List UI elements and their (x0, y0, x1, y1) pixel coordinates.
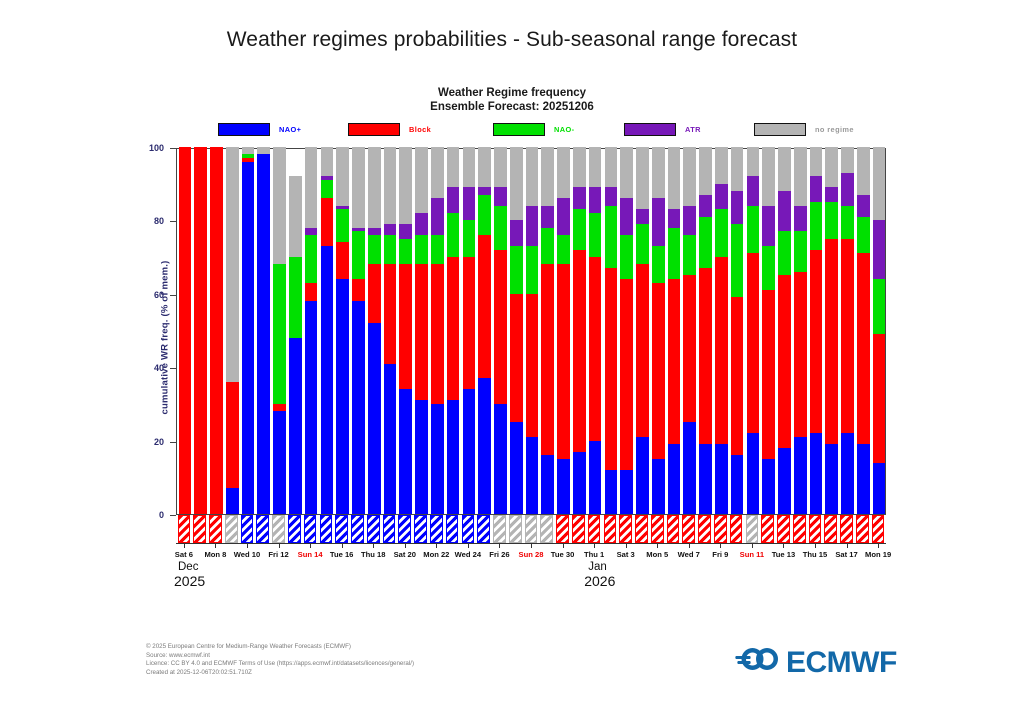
bar-segment-atr (478, 187, 491, 194)
bar-segment-no-regime (431, 147, 444, 198)
hatch-pattern-icon (841, 516, 852, 542)
bar-segment-block (447, 257, 460, 400)
bar-segment-nao (683, 422, 696, 514)
bar-segment-nao (841, 433, 854, 514)
dominant-regime-cell-block (635, 515, 648, 543)
hatch-pattern-icon (715, 516, 726, 542)
bar-segment-nao (857, 217, 870, 254)
bar-segment-atr (762, 206, 775, 246)
stacked-bar (620, 149, 633, 514)
footer-line-licence: Licence: CC BY 4.0 and ECMWF Terms of Us… (146, 660, 706, 669)
chart-title-line2: Ensemble Forecast: 20251206 (0, 100, 1024, 114)
ecmwf-logo-text: ECMWF (786, 646, 897, 680)
dominant-regime-cell-block (619, 515, 632, 543)
bar-segment-atr (699, 195, 712, 217)
stacked-bar (321, 149, 334, 514)
hatch-pattern-icon (762, 516, 773, 542)
dominant-regime-cell-nao (446, 515, 459, 543)
bar-segment-block (226, 382, 239, 488)
bar-segment-nao (557, 235, 570, 264)
bar-segment-block (825, 239, 838, 445)
hatch-pattern-icon (415, 516, 426, 542)
bar-segment-nao (321, 246, 334, 514)
bar-segment-nao (257, 154, 270, 514)
bar-segment-no-regime (510, 147, 523, 220)
hatch-pattern-icon (605, 516, 616, 542)
chart-legend: NAO+BlockNAO-ATRno regime (176, 121, 888, 139)
x-axis-tick-label: Thu 18 (361, 550, 385, 559)
dominant-regime-cell-no-regime (540, 515, 553, 543)
x-axis-tick-mark (783, 543, 784, 548)
stacked-bar (526, 149, 539, 514)
bar-segment-no-regime (273, 147, 286, 264)
stacked-bar (384, 149, 397, 514)
bar-segment-atr (589, 187, 602, 213)
bar-segment-nao (636, 224, 649, 264)
bar-segment-atr (857, 195, 870, 217)
stacked-bar (494, 149, 507, 514)
dominant-regime-cell-nao (367, 515, 380, 543)
hatch-pattern-icon (478, 516, 489, 542)
bar-segment-no-regime (352, 147, 365, 228)
stacked-bar (857, 149, 870, 514)
plot-area (176, 148, 886, 515)
dominant-regime-cell-block (193, 515, 206, 543)
bar-segment-nao (699, 444, 712, 514)
hatch-pattern-icon (652, 516, 663, 542)
hatch-pattern-icon (368, 516, 379, 542)
bar-segment-no-regime (399, 147, 412, 224)
stacked-bar (825, 149, 838, 514)
stacked-bar (226, 149, 239, 514)
legend-item-nao: NAO+ (218, 121, 301, 137)
hatch-pattern-icon (873, 516, 884, 542)
x-axis-tick-mark (405, 543, 406, 548)
bar-segment-block (715, 257, 728, 444)
dominant-regime-cell-block (809, 515, 822, 543)
x-axis-tick-label: Wed 7 (678, 550, 700, 559)
bar-segment-nao (352, 231, 365, 279)
bar-segment-atr (510, 220, 523, 246)
dominant-regime-cell-block (793, 515, 806, 543)
hatch-pattern-icon (384, 516, 395, 542)
bar-segment-block (557, 264, 570, 459)
bar-segment-block (810, 250, 823, 434)
hatch-pattern-icon (526, 516, 537, 542)
x-axis-tick-label: Wed 10 (234, 550, 260, 559)
bar-segment-nao (226, 488, 239, 514)
x-axis-month-name: Dec (178, 561, 205, 573)
bar-segment-atr (794, 206, 807, 232)
legend-label: NAO- (554, 125, 574, 134)
bar-segment-no-regime (368, 147, 381, 228)
stacked-bar (478, 149, 491, 514)
stacked-bars-layer (177, 149, 885, 514)
bar-segment-nao (336, 279, 349, 514)
bar-segment-block (273, 404, 286, 411)
footer-line-copyright: © 2025 European Centre for Medium-Range … (146, 643, 706, 652)
dominant-regime-cell-nao (304, 515, 317, 543)
bar-segment-no-regime (384, 147, 397, 224)
bar-segment-nao (368, 235, 381, 264)
bar-segment-nao (526, 437, 539, 514)
bar-segment-block (368, 264, 381, 323)
x-axis-tick-label: Thu 1 (584, 550, 604, 559)
x-axis-tick-mark (499, 543, 500, 548)
bar-segment-block (589, 257, 602, 441)
x-axis: Sat 6Mon 8Wed 10Fri 12Sun 14Tue 16Thu 18… (176, 543, 886, 563)
bar-segment-block (636, 264, 649, 436)
bar-segment-nao (336, 209, 349, 242)
x-axis-tick-label: Fri 26 (489, 550, 509, 559)
bar-segment-atr (715, 184, 728, 210)
bar-segment-nao (526, 246, 539, 294)
bar-segment-nao (415, 400, 428, 514)
bar-segment-nao (478, 378, 491, 514)
stacked-bar (289, 149, 302, 514)
stacked-bar (194, 149, 207, 514)
hatch-pattern-icon (321, 516, 332, 542)
bar-segment-nao (589, 213, 602, 257)
bar-segment-nao (463, 389, 476, 514)
hatch-pattern-icon (257, 516, 268, 542)
x-axis-year: 2026 (584, 573, 615, 589)
hatch-pattern-icon (557, 516, 568, 542)
hatch-pattern-icon (273, 516, 284, 542)
bar-segment-nao (778, 448, 791, 514)
x-axis-tick-label: Tue 30 (551, 550, 575, 559)
x-axis-tick-mark (468, 543, 469, 548)
dominant-regime-cell-block (572, 515, 585, 543)
bar-segment-atr (825, 187, 838, 202)
bar-segment-atr (810, 176, 823, 202)
bar-segment-no-regime (557, 147, 570, 198)
dominant-regime-cell-nao (398, 515, 411, 543)
dominant-regime-cell-block (556, 515, 569, 543)
x-axis-tick-label: Sat 6 (175, 550, 193, 559)
bar-segment-block (652, 283, 665, 459)
bar-segment-nao (620, 470, 633, 514)
hatch-pattern-icon (825, 516, 836, 542)
stacked-bar (731, 149, 744, 514)
x-axis-tick-label: Sat 20 (394, 550, 416, 559)
footer-credits: © 2025 European Centre for Medium-Range … (146, 643, 706, 677)
legend-item-atr: ATR (624, 121, 701, 137)
dominant-regime-cell-block (667, 515, 680, 543)
legend-label: no regime (815, 125, 854, 134)
bar-segment-no-regime (715, 147, 728, 184)
dominant-regime-cell-block (856, 515, 869, 543)
stacked-bar (873, 149, 886, 514)
bar-segment-block (857, 253, 870, 444)
bar-segment-atr (526, 206, 539, 246)
stacked-bar (557, 149, 570, 514)
bar-segment-atr (463, 187, 476, 220)
bar-segment-no-regime (620, 147, 633, 198)
x-axis-tick-mark (720, 543, 721, 548)
dominant-regime-strip (176, 515, 886, 543)
bar-segment-block (415, 264, 428, 400)
dominant-regime-cell-block (761, 515, 774, 543)
y-axis-tick-label: 0 (159, 510, 164, 520)
bar-segment-nao (731, 224, 744, 297)
bar-segment-nao (825, 444, 838, 514)
stacked-bar (210, 149, 223, 514)
bar-segment-nao (857, 444, 870, 514)
legend-label: NAO+ (279, 125, 301, 134)
bar-segment-nao (636, 437, 649, 514)
bar-segment-atr (447, 187, 460, 213)
legend-swatch-icon (348, 123, 400, 136)
bar-segment-nao (652, 246, 665, 283)
footer-line-created: Created at 2025-12-06T20:02:51.710Z (146, 669, 706, 678)
x-axis-tick-label: Sun 14 (298, 550, 323, 559)
x-axis-tick-mark (752, 543, 753, 548)
bar-segment-block (431, 264, 444, 403)
bar-segment-nao (305, 235, 318, 283)
bar-segment-atr (431, 198, 444, 235)
dominant-regime-cell-nao (256, 515, 269, 543)
stacked-bar (510, 149, 523, 514)
bar-segment-nao (668, 444, 681, 514)
bar-segment-nao (242, 154, 255, 158)
bar-segment-no-regime (841, 147, 854, 173)
bar-segment-no-regime (589, 147, 602, 187)
bar-segment-nao (573, 209, 586, 249)
dominant-regime-cell-block (588, 515, 601, 543)
hatch-pattern-icon (541, 516, 552, 542)
bar-segment-nao (715, 444, 728, 514)
bar-segment-nao (510, 422, 523, 514)
bar-segment-block (731, 297, 744, 455)
x-axis-tick-label: Sun 11 (740, 550, 764, 559)
legend-swatch-icon (493, 123, 545, 136)
bar-segment-nao (589, 441, 602, 514)
dominant-regime-cell-nao (241, 515, 254, 543)
x-axis-tick-mark (878, 543, 879, 548)
hatch-pattern-icon (226, 516, 237, 542)
bar-segment-atr (573, 187, 586, 209)
dominant-regime-cell-block (604, 515, 617, 543)
hatch-pattern-icon (289, 516, 300, 542)
bar-segment-block (526, 294, 539, 437)
bar-segment-no-regime (526, 147, 539, 206)
dominant-regime-cell-nao (320, 515, 333, 543)
bar-segment-block (494, 250, 507, 404)
y-axis-tick-label: 60 (154, 290, 164, 300)
hatch-pattern-icon (636, 516, 647, 542)
bar-segment-no-regime (573, 147, 586, 187)
bar-segment-block (210, 147, 223, 514)
hatch-pattern-icon (510, 516, 521, 542)
bar-segment-nao (810, 433, 823, 514)
x-axis-tick-label: Mon 22 (423, 550, 449, 559)
bar-segment-no-regime (731, 147, 744, 191)
dominant-regime-cell-block (209, 515, 222, 543)
bar-segment-atr (368, 228, 381, 235)
bar-segment-nao (841, 206, 854, 239)
bar-segment-block (683, 275, 696, 422)
bar-segment-no-regime (857, 147, 870, 195)
x-axis-tick-label: Fri 9 (712, 550, 728, 559)
bar-segment-block (510, 294, 523, 422)
stacked-bar (257, 149, 270, 514)
stacked-bar (242, 149, 255, 514)
hatch-pattern-icon (747, 516, 758, 542)
legend-label: Block (409, 125, 431, 134)
dominant-regime-cell-no-regime (509, 515, 522, 543)
bar-segment-nao (699, 217, 712, 268)
stacked-bar (778, 149, 791, 514)
bar-segment-nao (541, 228, 554, 265)
bar-segment-nao (463, 220, 476, 257)
x-axis-month-block: Dec2025 (178, 561, 205, 589)
bar-segment-nao (447, 213, 460, 257)
stacked-bar (636, 149, 649, 514)
bar-segment-no-regime (794, 147, 807, 206)
stacked-bar (305, 149, 318, 514)
hatch-pattern-icon (573, 516, 584, 542)
chart-title-line1: Weather Regime frequency (0, 86, 1024, 100)
bar-segment-nao (384, 364, 397, 514)
stacked-bar (715, 149, 728, 514)
y-axis-tick-label: 80 (154, 216, 164, 226)
dominant-regime-cell-block (730, 515, 743, 543)
hatch-pattern-icon (731, 516, 742, 542)
hatch-pattern-icon (778, 516, 789, 542)
stacked-bar (573, 149, 586, 514)
hatch-pattern-icon (352, 516, 363, 542)
bar-segment-no-regime (447, 147, 460, 187)
dominant-regime-cell-nao (383, 515, 396, 543)
stacked-bar (589, 149, 602, 514)
bar-segment-atr (683, 206, 696, 235)
x-axis-tick-label: Tue 16 (330, 550, 354, 559)
bar-segment-no-regime (336, 147, 349, 206)
bar-segment-block (762, 290, 775, 459)
dominant-regime-cell-no-regime (493, 515, 506, 543)
bar-segment-no-regime (652, 147, 665, 198)
bar-segment-no-regime (478, 147, 491, 187)
bar-segment-block (747, 253, 760, 433)
bar-segment-nao (873, 279, 886, 334)
bar-segment-atr (352, 228, 365, 232)
x-axis-tick-mark (184, 543, 185, 548)
hatch-pattern-icon (494, 516, 505, 542)
bar-segment-no-regime (778, 147, 791, 191)
y-axis-tick-label: 100 (149, 143, 164, 153)
x-axis-tick-mark (689, 543, 690, 548)
stacked-bar (447, 149, 460, 514)
bar-segment-no-regime (541, 147, 554, 206)
x-axis-tick-label: Thu 15 (803, 550, 827, 559)
x-axis-tick-mark (215, 543, 216, 548)
weather-regime-chart-page: Weather regimes probabilities - Sub-seas… (0, 0, 1024, 720)
bar-segment-nao (668, 228, 681, 279)
bar-segment-block (573, 250, 586, 452)
bar-segment-atr (336, 206, 349, 210)
bar-segment-atr (841, 173, 854, 206)
stacked-bar (841, 149, 854, 514)
dominant-regime-cell-block (872, 515, 885, 543)
bar-segment-atr (731, 191, 744, 224)
bar-segment-no-regime (825, 147, 838, 187)
bar-segment-nao (273, 411, 286, 514)
bar-segment-nao (352, 301, 365, 514)
dominant-regime-cell-block (840, 515, 853, 543)
dominant-regime-cell-no-regime (746, 515, 759, 543)
bar-segment-nao (399, 389, 412, 514)
dominant-regime-cell-nao (335, 515, 348, 543)
bar-segment-atr (620, 198, 633, 235)
hatch-pattern-icon (194, 516, 205, 542)
bar-segment-no-regime (699, 147, 712, 195)
x-axis-tick-mark (531, 543, 532, 548)
dominant-regime-cell-block (651, 515, 664, 543)
bar-segment-nao (731, 455, 744, 514)
x-axis-tick-label: Sat 3 (617, 550, 635, 559)
bar-segment-block (179, 147, 192, 514)
legend-swatch-icon (754, 123, 806, 136)
bar-segment-nao (447, 400, 460, 514)
bar-segment-block (541, 264, 554, 455)
hatch-pattern-icon (589, 516, 600, 542)
hatch-pattern-icon (857, 516, 868, 542)
bar-segment-no-regime (226, 147, 239, 382)
bar-segment-block (194, 147, 207, 514)
bar-segment-nao (573, 452, 586, 514)
dominant-regime-cell-nao (462, 515, 475, 543)
bar-segment-atr (668, 209, 681, 227)
bar-segment-block (620, 279, 633, 470)
x-axis-tick-mark (815, 543, 816, 548)
hatch-pattern-icon (431, 516, 442, 542)
bar-segment-no-regime (289, 176, 302, 257)
bar-segment-nao (810, 202, 823, 250)
bar-segment-no-regime (605, 147, 618, 187)
legend-item-nao: NAO- (493, 121, 574, 137)
dominant-regime-cell-block (682, 515, 695, 543)
bar-segment-no-regime (463, 147, 476, 187)
x-axis-tick-mark (342, 543, 343, 548)
stacked-bar (762, 149, 775, 514)
bar-segment-atr (778, 191, 791, 231)
x-axis-tick-mark (247, 543, 248, 548)
x-axis-month-name: Jan (588, 561, 615, 573)
legend-item-block: Block (348, 121, 431, 137)
stacked-bar (810, 149, 823, 514)
dominant-regime-cell-nao (288, 515, 301, 543)
bar-segment-block (384, 264, 397, 363)
bar-segment-atr (494, 187, 507, 205)
bar-segment-no-regime (762, 147, 775, 206)
x-axis-year: 2025 (174, 573, 205, 589)
bar-segment-no-regime (415, 147, 428, 213)
bar-segment-nao (715, 209, 728, 257)
stacked-bar (415, 149, 428, 514)
stacked-bar (699, 149, 712, 514)
hatch-pattern-icon (699, 516, 710, 542)
bar-segment-nao (762, 459, 775, 514)
bar-segment-no-regime (242, 147, 255, 154)
stacked-bar (683, 149, 696, 514)
bar-segment-atr (557, 198, 570, 235)
x-axis-tick-mark (279, 543, 280, 548)
bar-segment-nao (321, 180, 334, 198)
hatch-pattern-icon (668, 516, 679, 542)
bar-segment-atr (321, 176, 334, 180)
bar-segment-block (242, 158, 255, 162)
